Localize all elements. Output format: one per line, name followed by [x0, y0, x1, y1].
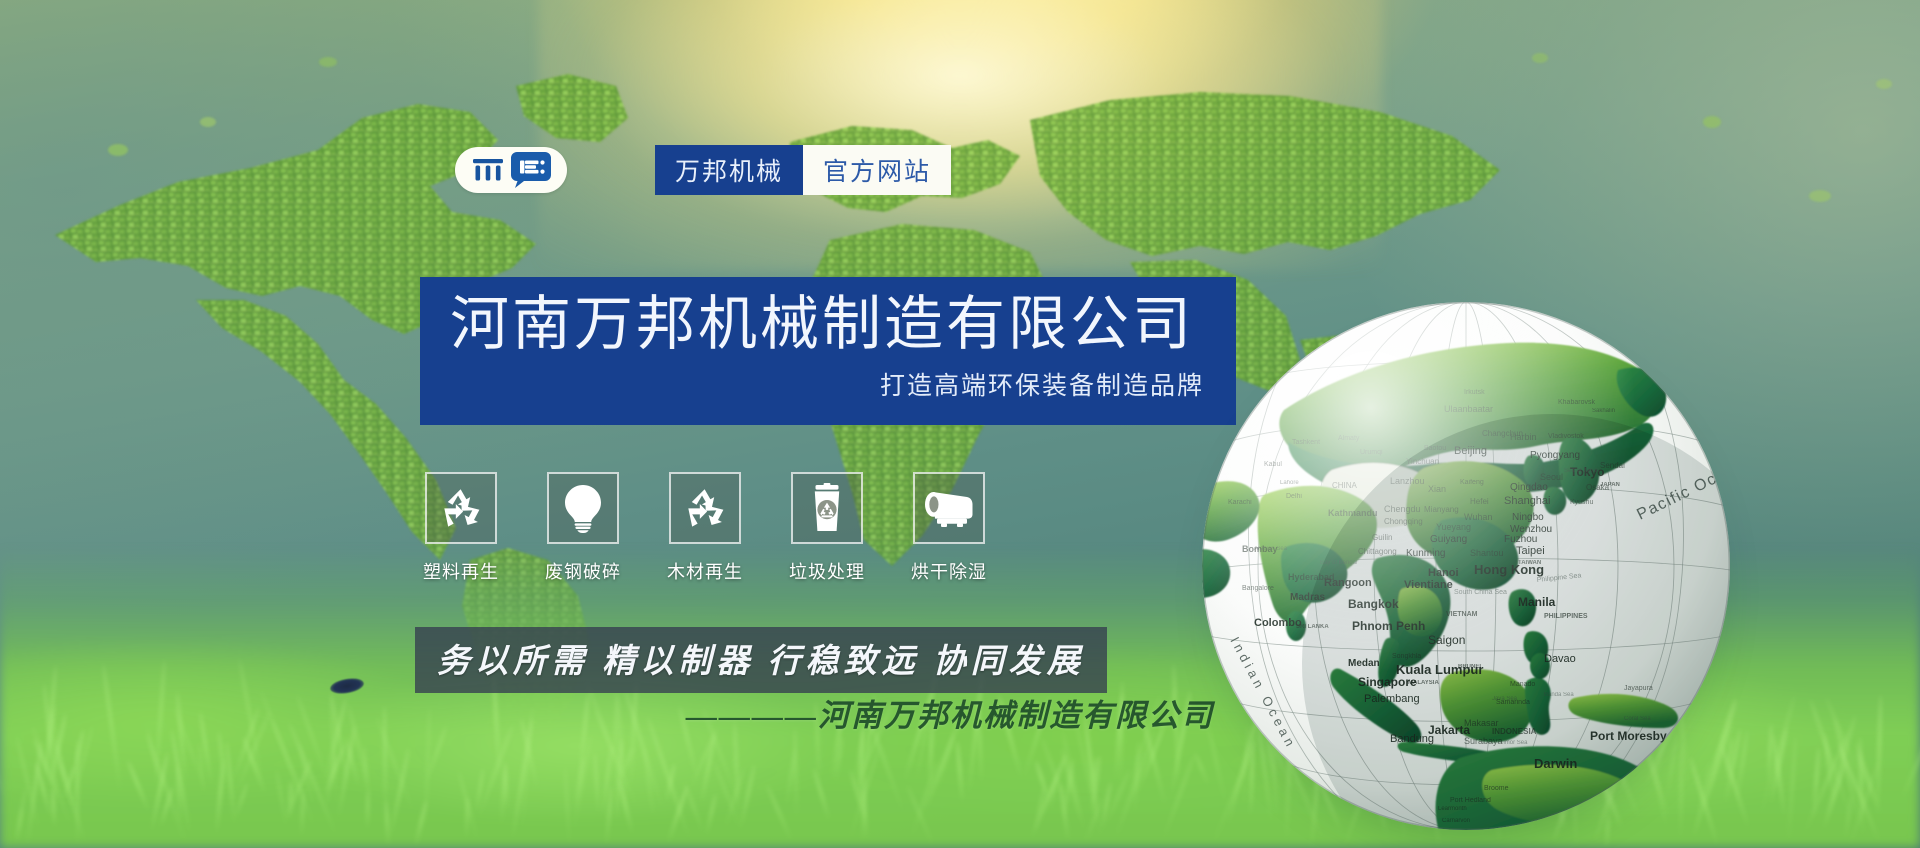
slogan-attribution: ————河南万邦机械制造有限公司	[686, 690, 1214, 735]
recycle-icon	[682, 485, 728, 531]
grass-blade	[812, 768, 831, 821]
grass-blade	[385, 800, 391, 846]
feature-icon-box	[913, 472, 985, 544]
grass-blade	[275, 769, 288, 827]
feature-icon-box	[547, 472, 619, 544]
grass-blade	[217, 731, 227, 785]
grass-blade	[922, 733, 955, 815]
feature-list: 塑料再生 废钢破碎 木材再生	[417, 472, 993, 584]
feature-label: 木材再生	[667, 558, 743, 584]
rotary-dryer-icon	[923, 488, 975, 528]
feature-item-waste-treatment[interactable]: 垃圾处理	[783, 472, 871, 584]
nav-item-brand[interactable]: 万邦机械	[655, 145, 803, 195]
recycle-icon	[438, 485, 484, 531]
feature-item-wood-recycling[interactable]: 木材再生	[661, 472, 749, 584]
globe: UlaanbaatarChangchunBeijingBaotouYinchua…	[1192, 292, 1740, 840]
grass-blade	[101, 664, 121, 792]
slogan-banner: 务以所需 精以制器 行稳致远 协同发展	[415, 627, 1107, 693]
page-title: 河南万邦机械制造有限公司	[450, 294, 1204, 356]
grass-blade	[0, 697, 7, 799]
header-nav: 万邦机械 官方网站	[655, 145, 951, 195]
feature-icon-box	[669, 472, 741, 544]
grass-blade	[225, 741, 236, 825]
grass-blade	[503, 762, 507, 809]
grass-blade	[375, 716, 415, 813]
feature-label: 塑料再生	[423, 558, 499, 584]
feature-icon-box	[791, 472, 863, 544]
grass-blade	[238, 658, 264, 784]
logo-w-icon	[471, 155, 505, 185]
hero-banner: // placeholder replaced below by generat…	[0, 0, 1920, 848]
grass-blade	[127, 760, 150, 811]
grass-blade	[1787, 736, 1797, 843]
globe-sphere: UlaanbaatarChangchunBeijingBaotouYinchua…	[1192, 292, 1740, 840]
site-header: 万邦机械 官方网站	[455, 145, 951, 195]
grass-blade	[296, 694, 329, 779]
feature-label: 垃圾处理	[789, 558, 865, 584]
feature-item-plastic-recycling[interactable]: 塑料再生	[417, 472, 505, 584]
feature-label: 烘干除湿	[911, 558, 987, 584]
hero-title-box: 河南万邦机械制造有限公司 打造高端环保装备制造品牌	[420, 277, 1236, 425]
lightbulb-icon	[561, 483, 605, 533]
logo-b-speech-bubble-icon	[510, 151, 552, 189]
nav-item-official-site[interactable]: 官方网站	[803, 145, 951, 195]
grass-blade	[593, 753, 600, 814]
grass-blade	[705, 793, 717, 834]
globe-svg: UlaanbaatarChangchunBeijingBaotouYinchua…	[1192, 292, 1740, 840]
grass-blade	[956, 741, 964, 804]
feature-icon-box	[425, 472, 497, 544]
grass-blade	[300, 789, 305, 837]
hero-tagline: 打造高端环保装备制造品牌	[450, 366, 1204, 402]
feature-item-drying-dehumidifying[interactable]: 烘干除湿	[905, 472, 993, 584]
grass-blade	[1900, 685, 1920, 800]
grass-blade	[734, 722, 741, 818]
grass-blade	[383, 706, 387, 811]
feature-item-scrap-steel-crushing[interactable]: 废钢破碎	[539, 472, 627, 584]
wanbang-logo[interactable]	[455, 147, 567, 193]
globe-city-label: Perth	[1458, 835, 1476, 840]
trash-bin-recycle-icon	[808, 483, 846, 533]
feature-label: 废钢破碎	[545, 558, 621, 584]
slogan-text: 务以所需 精以制器 行稳致远 协同发展	[437, 634, 1085, 682]
grass-blade	[564, 767, 571, 846]
grass-blade	[794, 728, 799, 817]
